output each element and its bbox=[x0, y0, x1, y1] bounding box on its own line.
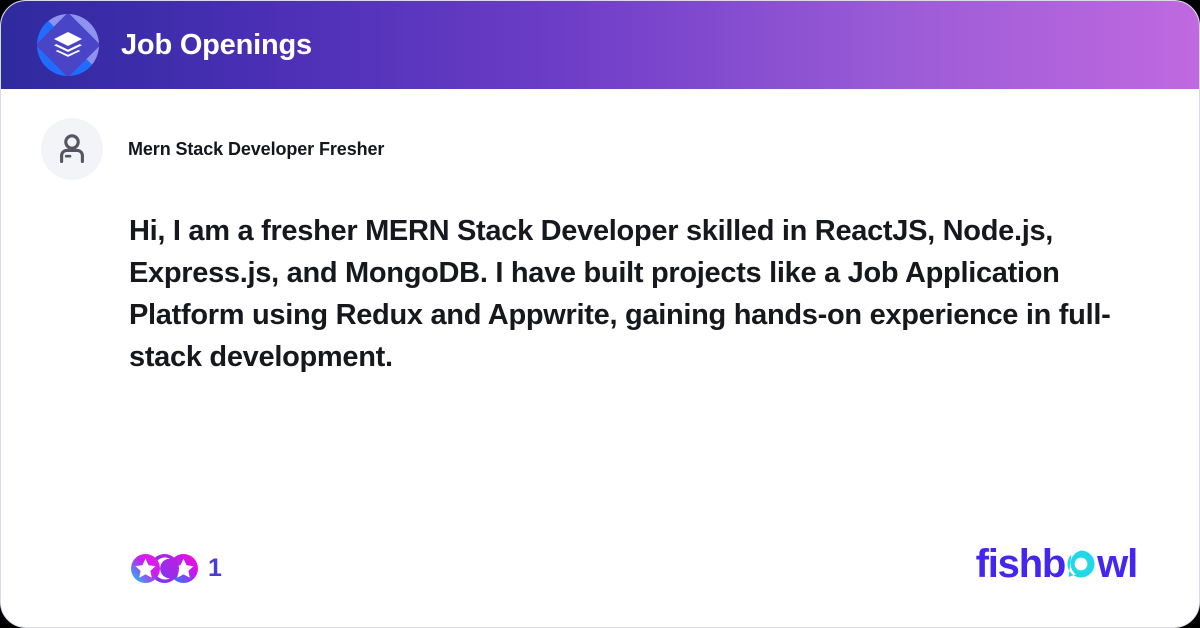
layers-glyph bbox=[53, 31, 83, 59]
reactions-group[interactable]: 1 bbox=[131, 554, 222, 583]
page-title: Job Openings bbox=[121, 29, 312, 62]
layers-stack-icon bbox=[37, 14, 99, 76]
card-header: Job Openings bbox=[1, 1, 1199, 89]
post-header: Mern Stack Developer Fresher bbox=[41, 118, 384, 180]
avatar bbox=[41, 118, 103, 180]
brand-text-after: wl bbox=[1097, 542, 1137, 587]
fishbowl-o-icon bbox=[1066, 544, 1096, 574]
brand-text-before: fishb bbox=[976, 542, 1066, 587]
fishbowl-brand-logo: fishb wl bbox=[976, 542, 1137, 587]
star-reaction-icon[interactable] bbox=[131, 554, 160, 583]
person-icon bbox=[55, 132, 89, 166]
post-body-text: Hi, I am a fresher MERN Stack Developer … bbox=[129, 210, 1139, 378]
reaction-badge-stack[interactable] bbox=[131, 554, 188, 583]
reaction-count: 1 bbox=[208, 554, 222, 583]
post-card: Job Openings Mern Stack Developer Freshe… bbox=[0, 0, 1200, 628]
card-body: Mern Stack Developer Fresher Hi, I am a … bbox=[1, 89, 1199, 627]
post-title: Mern Stack Developer Fresher bbox=[128, 139, 384, 160]
